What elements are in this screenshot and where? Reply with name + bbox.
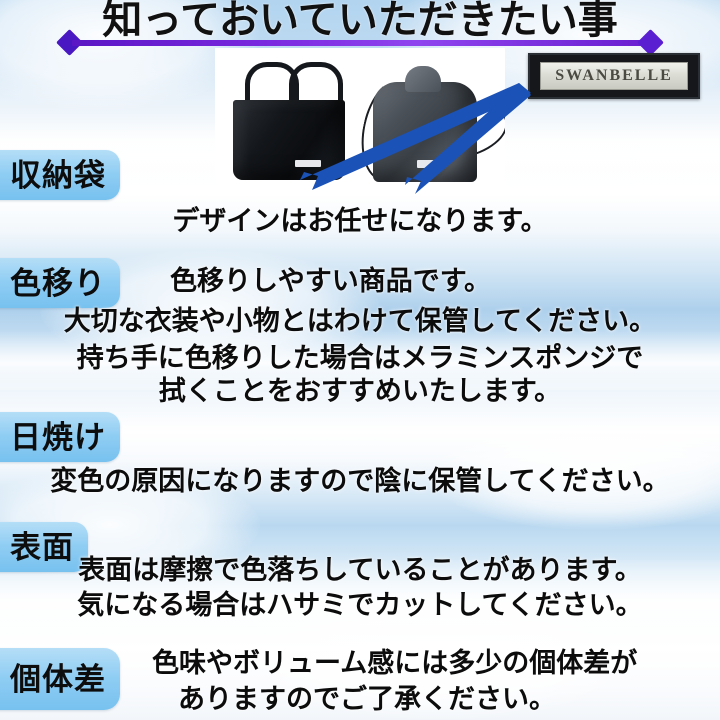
brand-name-text: SWANBELLE [555,67,673,85]
brand-plate: SWANBELLE [528,53,700,99]
product-photo [215,48,505,196]
section-label-sun-fading: 日焼け [0,412,120,462]
section-text-color-transfer-line-2: 大切な衣装や小物とはわけて保管してください。 [0,308,720,335]
divider-bar [72,40,648,46]
section-label-storage-bag: 収納袋 [0,150,120,200]
section-text-surface-line-1: 表面は摩擦で色落ちしていることがあります。 [0,557,720,584]
section-label-color-transfer: 色移り [0,258,120,308]
section-text-sun-fading-line-1: 変色の原因になりますので陰に保管してください。 [0,468,720,495]
section-text-color-transfer-line-4: 拭くことをおすすめいたします。 [0,378,720,405]
section-label-individual-difference: 個体差 [0,648,120,710]
section-text-individual-difference-line-1: 色味やボリューム感には多少の個体差が [152,650,637,677]
section-text-color-transfer-line-3: 持ち手に色移りした場合はメラミンスポンジで [0,345,720,372]
section-label-text: 日焼け [10,422,106,453]
section-text-surface-line-2: 気になる場合はハサミでカットしてください。 [0,592,720,619]
section-label-text: 収納袋 [10,160,106,191]
section-label-text: 個体差 [10,664,106,695]
section-label-text: 色移り [10,268,106,299]
section-text-storage-bag-line-1: デザインはお任せになります。 [0,208,720,235]
tote-body [233,100,345,180]
tote-bag-image [233,62,345,180]
drawstring-bag-image [365,56,485,188]
section-text-individual-difference-line-2: ありますのでご了承ください。 [178,686,556,713]
drawstring-brand-tag [417,160,445,168]
title-divider [62,38,658,47]
drawstring-cinch-top [405,66,441,92]
section-text-color-transfer-line-1: 色移りしやすい商品です。 [170,268,491,295]
brand-plate-inner: SWANBELLE [540,62,688,90]
product-notice-graphic: 知っておいていただきたい事 SWANBELLE [0,0,720,720]
tote-brand-tag [295,160,321,167]
